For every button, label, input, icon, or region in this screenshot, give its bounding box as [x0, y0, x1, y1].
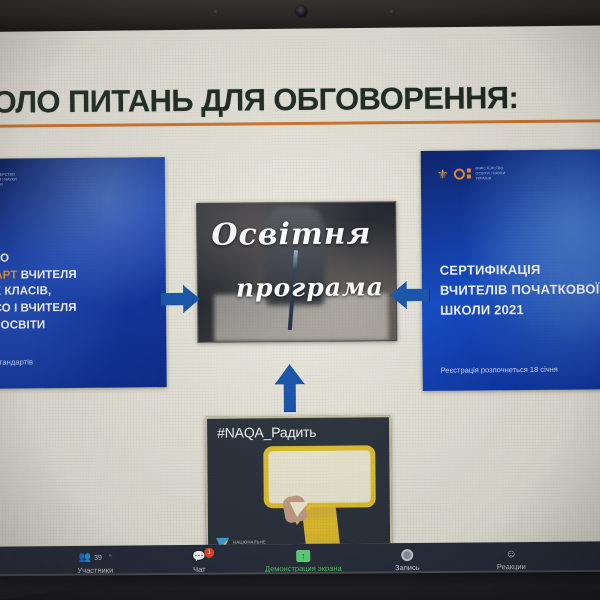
educational-program-line2: програма: [236, 272, 384, 302]
share-screen-icon: ↑: [296, 549, 310, 562]
slide-title: КОЛО ПИТАНЬ ДЛЯ ОБГОВОРЕННЯ:: [0, 79, 600, 121]
webcam-lens-icon: [296, 6, 307, 17]
smiley-glyph: ☺: [506, 549, 517, 560]
card-educational-program[interactable]: Освітня програма: [196, 201, 397, 343]
mon-logo-right: ⚜ МІНІСТЕРСТВО ОСВІТИ І НАУКИ УКРАЇНИ: [437, 166, 506, 181]
certification-headline: СЕРТИФІКАЦІЯ ВЧИТЕЛІВ ПОЧАТКОВОЇ ШКОЛИ 2…: [440, 259, 600, 320]
card-profstandard[interactable]: МІНІСТЕРСТВО ОСВІТИ І НАУКИ УКРАЇНИ ЗАТВ…: [0, 157, 167, 389]
smiley-reaction-icon: ☺: [506, 548, 517, 561]
certification-line1: СЕРТИФІКАЦІЯ: [440, 259, 600, 281]
microphone-dot-left: [214, 10, 217, 13]
toolbar-item-participants[interactable]: 👥 39 ^ Участники: [56, 551, 134, 575]
toolbar-label-reactions: Реакции: [497, 562, 526, 571]
card-certification[interactable]: ⚜ МІНІСТЕРСТВО ОСВІТИ І НАУКИ УКРАЇНИ СЕ…: [421, 149, 600, 391]
educational-program-line1: Освітня: [211, 216, 371, 252]
certification-line2: ВЧИТЕЛІВ ПОЧАТКОВОЇ: [440, 279, 600, 301]
profstandard-footnote: Реєстр професійних стандартів: [0, 356, 167, 367]
card-naqa[interactable]: #NAQA_Радить НАЦІОНАЛЬНЕ АГЕНТСТВО: [205, 415, 392, 546]
mon-logo-text-left: МІНІСТЕРСТВО ОСВІТИ І НАУКИ УКРАЇНИ: [0, 172, 17, 187]
profstandard-line5: ПОЧАТКОВОЇ ОСВІТИ: [0, 316, 167, 335]
title-underline: [0, 119, 600, 128]
participants-count: 39: [94, 554, 102, 561]
ukraine-trident-icon: ⚜: [437, 167, 449, 180]
certification-footnote: Реєстрація розпочнеться 18 січня: [441, 365, 558, 375]
toolbar-item-record[interactable]: Запись: [368, 548, 446, 572]
certification-line3: ШКОЛИ 2021: [440, 298, 600, 320]
card-profstandard-body: ЗАТВЕРДЖЕНО ПРОФСТАНДАРТ ВЧИТЕЛЯ ПОЧАТКО…: [0, 249, 167, 335]
mon-mark-icon-right: [453, 168, 470, 179]
mon-logo-text-right: МІНІСТЕРСТВО ОСВІТИ І НАУКИ УКРАЇНИ: [475, 166, 505, 181]
toolbar-item-share-screen[interactable]: ↑ Демонстрация экрана: [264, 549, 342, 573]
profstandard-highlight: ПРОФСТАНДАРТ: [0, 269, 18, 282]
microphone-dot-right: [390, 10, 393, 13]
profstandard-line2-rest: ВЧИТЕЛЯ: [17, 269, 76, 282]
speech-bubble-icon: [263, 445, 376, 508]
chevron-up-icon[interactable]: ^: [109, 555, 112, 561]
laptop-bottom-bezel: [0, 570, 600, 600]
mon-logo-left: МІНІСТЕРСТВО ОСВІТИ І НАУКИ УКРАЇНИ: [0, 172, 17, 187]
mon-colon-icon-right: [467, 169, 471, 179]
mon-circle-icon-right: [453, 168, 464, 179]
record-circle-icon: [401, 549, 413, 562]
toolbar-item-chat[interactable]: 💬 1 Чат: [160, 550, 238, 574]
naqa-hashtag: #NAQA_Радить: [217, 424, 316, 441]
chat-unread-badge: 1: [204, 547, 214, 557]
laptop-photo: КОЛО ПИТАНЬ ДЛЯ ОБГОВОРЕННЯ: МІНІСТЕРСТВ…: [0, 0, 600, 600]
shared-slide: КОЛО ПИТАНЬ ДЛЯ ОБГОВОРЕННЯ: МІНІСТЕРСТВ…: [0, 31, 600, 546]
people-icon: 👥 39 ^: [79, 551, 112, 564]
arrow-up-icon: [275, 364, 305, 412]
toolbar-item-reactions[interactable]: ☺ Реакции: [472, 547, 550, 571]
share-arrow-glyph: ↑: [301, 551, 306, 560]
share-screen-square-icon: ↑: [296, 550, 310, 562]
laptop-screen: КОЛО ПИТАНЬ ДЛЯ ОБГОВОРЕННЯ: МІНІСТЕРСТВ…: [0, 23, 600, 580]
record-dot-icon: [401, 549, 413, 561]
